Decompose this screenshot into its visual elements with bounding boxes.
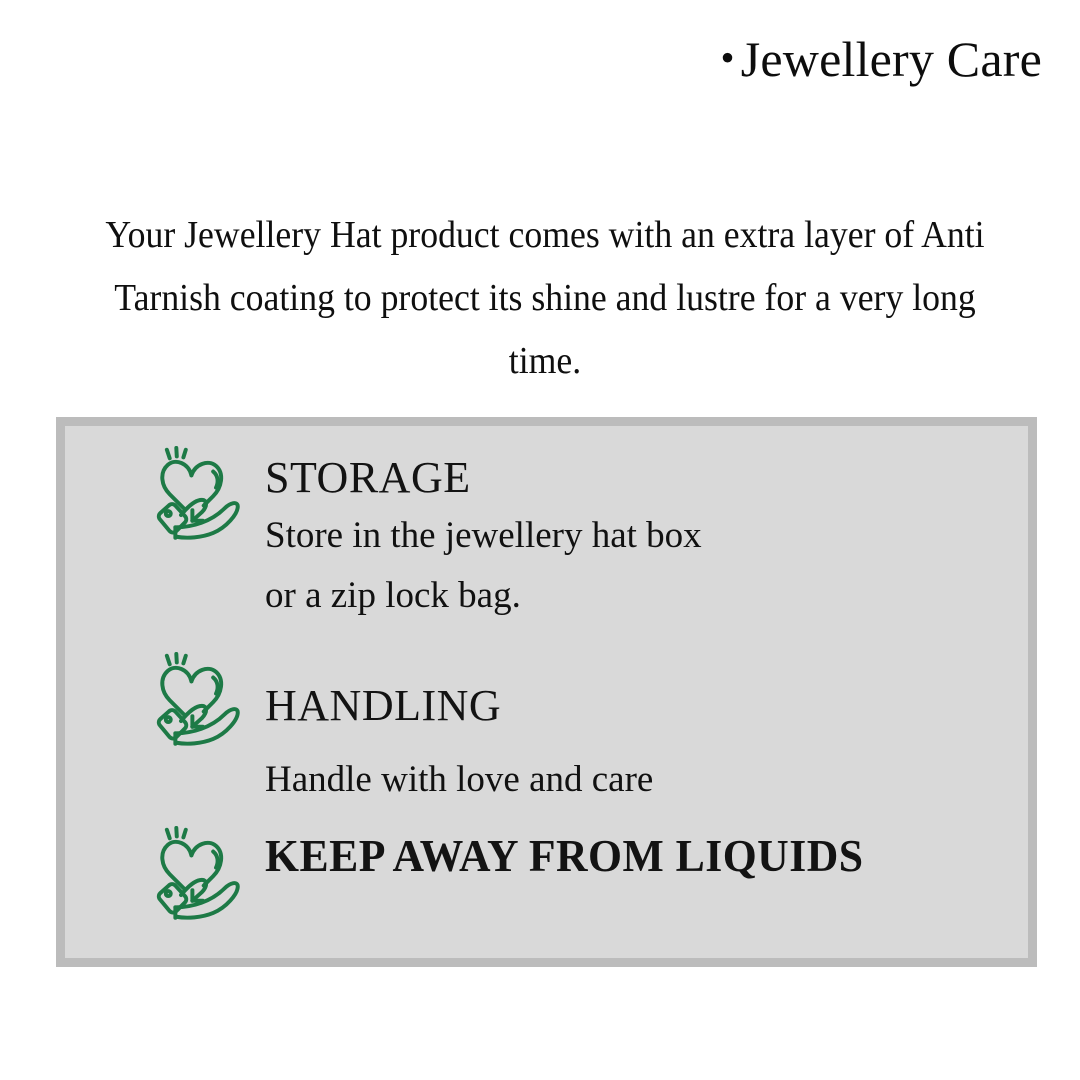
care-instructions-list: STORAGE Store in the jewellery hat boxor… [65, 426, 1028, 958]
care-instruction-row-keep-away-from-liquids: KEEP AWAY FROM LIQUIDS [147, 824, 895, 930]
care-instruction-description: Store in the jewellery hat boxor a zip l… [265, 506, 702, 626]
intro-paragraph: Your Jewellery Hat product comes with an… [99, 204, 992, 393]
care-instruction-heading: STORAGE [265, 452, 702, 504]
care-instruction-text: STORAGE Store in the jewellery hat boxor… [265, 446, 702, 626]
care-instruction-heading: HANDLING [265, 680, 653, 732]
heart-in-hand-icon [147, 446, 251, 550]
care-instruction-row-storage: STORAGE Store in the jewellery hat boxor… [147, 446, 702, 626]
care-instructions-box: STORAGE Store in the jewellery hat boxor… [56, 417, 1037, 967]
care-instruction-heading: KEEP AWAY FROM LIQUIDS [265, 830, 864, 882]
care-instruction-line: or a zip lock bag. [265, 566, 702, 626]
heart-in-hand-icon [147, 652, 251, 756]
bullet-icon: • [721, 35, 735, 80]
care-instruction-row-handling: HANDLING Handle with love and care [147, 648, 653, 810]
care-instruction-description: Handle with love and care [265, 750, 653, 810]
heart-in-hand-icon [147, 826, 251, 930]
care-instruction-text: HANDLING Handle with love and care [265, 648, 653, 810]
care-instruction-line: Handle with love and care [265, 750, 653, 810]
page-title: •Jewellery Care [0, 32, 1042, 87]
care-instruction-line: Store in the jewellery hat box [265, 506, 702, 566]
page-title-text: Jewellery Care [741, 31, 1042, 87]
care-instruction-text: KEEP AWAY FROM LIQUIDS [265, 824, 895, 882]
